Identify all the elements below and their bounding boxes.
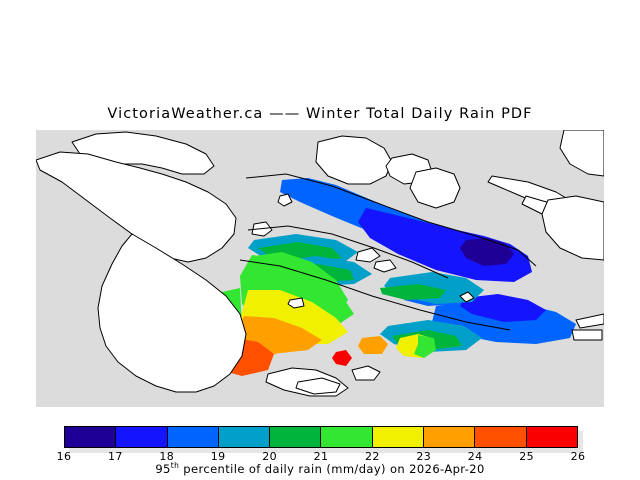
- colorbar-cell-18-19: [168, 427, 219, 447]
- land-east-strip-2: [572, 330, 602, 340]
- land-east-block: [542, 196, 604, 260]
- caption-prefix: 95: [155, 462, 170, 476]
- colorbar-caption: 95th percentile of daily rain (mm/day) o…: [0, 461, 640, 476]
- colorbar-cell-23-24: [424, 427, 475, 447]
- colorbar: [64, 426, 578, 448]
- screenshot-root: VictoriaWeather.ca —— Winter Total Daily…: [0, 0, 640, 480]
- contour-island-orange: [358, 336, 388, 354]
- colorbar-cell-25-26: [527, 427, 577, 447]
- colorbar-cell-17-18: [116, 427, 167, 447]
- colorbar-cell-24-25: [475, 427, 526, 447]
- colorbar-cell-21-22: [321, 427, 372, 447]
- contour-fill-layer: [212, 178, 576, 376]
- page-title: VictoriaWeather.ca —— Winter Total Daily…: [0, 106, 640, 122]
- colorbar-cell-19-20: [219, 427, 270, 447]
- land-interior-island-1: [316, 136, 392, 184]
- colorbar-cell-16-17: [65, 427, 116, 447]
- land-south-islet-1: [352, 366, 380, 380]
- land-east-strip-1: [576, 314, 604, 328]
- map-plot-area: [36, 130, 604, 407]
- caption-rest: percentile of daily rain (mm/day) on 202…: [179, 462, 484, 476]
- caption-superscript: th: [171, 461, 180, 470]
- colorbar-swatches: [64, 426, 578, 448]
- land-main-southwest: [98, 234, 246, 392]
- map-svg: [36, 130, 604, 407]
- contour-island-red-spot: [332, 350, 352, 366]
- land-interior-island-3: [410, 168, 460, 208]
- land-islet-e: [374, 260, 396, 272]
- colorbar-cell-22-23: [373, 427, 424, 447]
- land-northeast-block: [560, 130, 604, 176]
- colorbar-cell-20-21: [270, 427, 321, 447]
- land-islet-d: [356, 248, 380, 262]
